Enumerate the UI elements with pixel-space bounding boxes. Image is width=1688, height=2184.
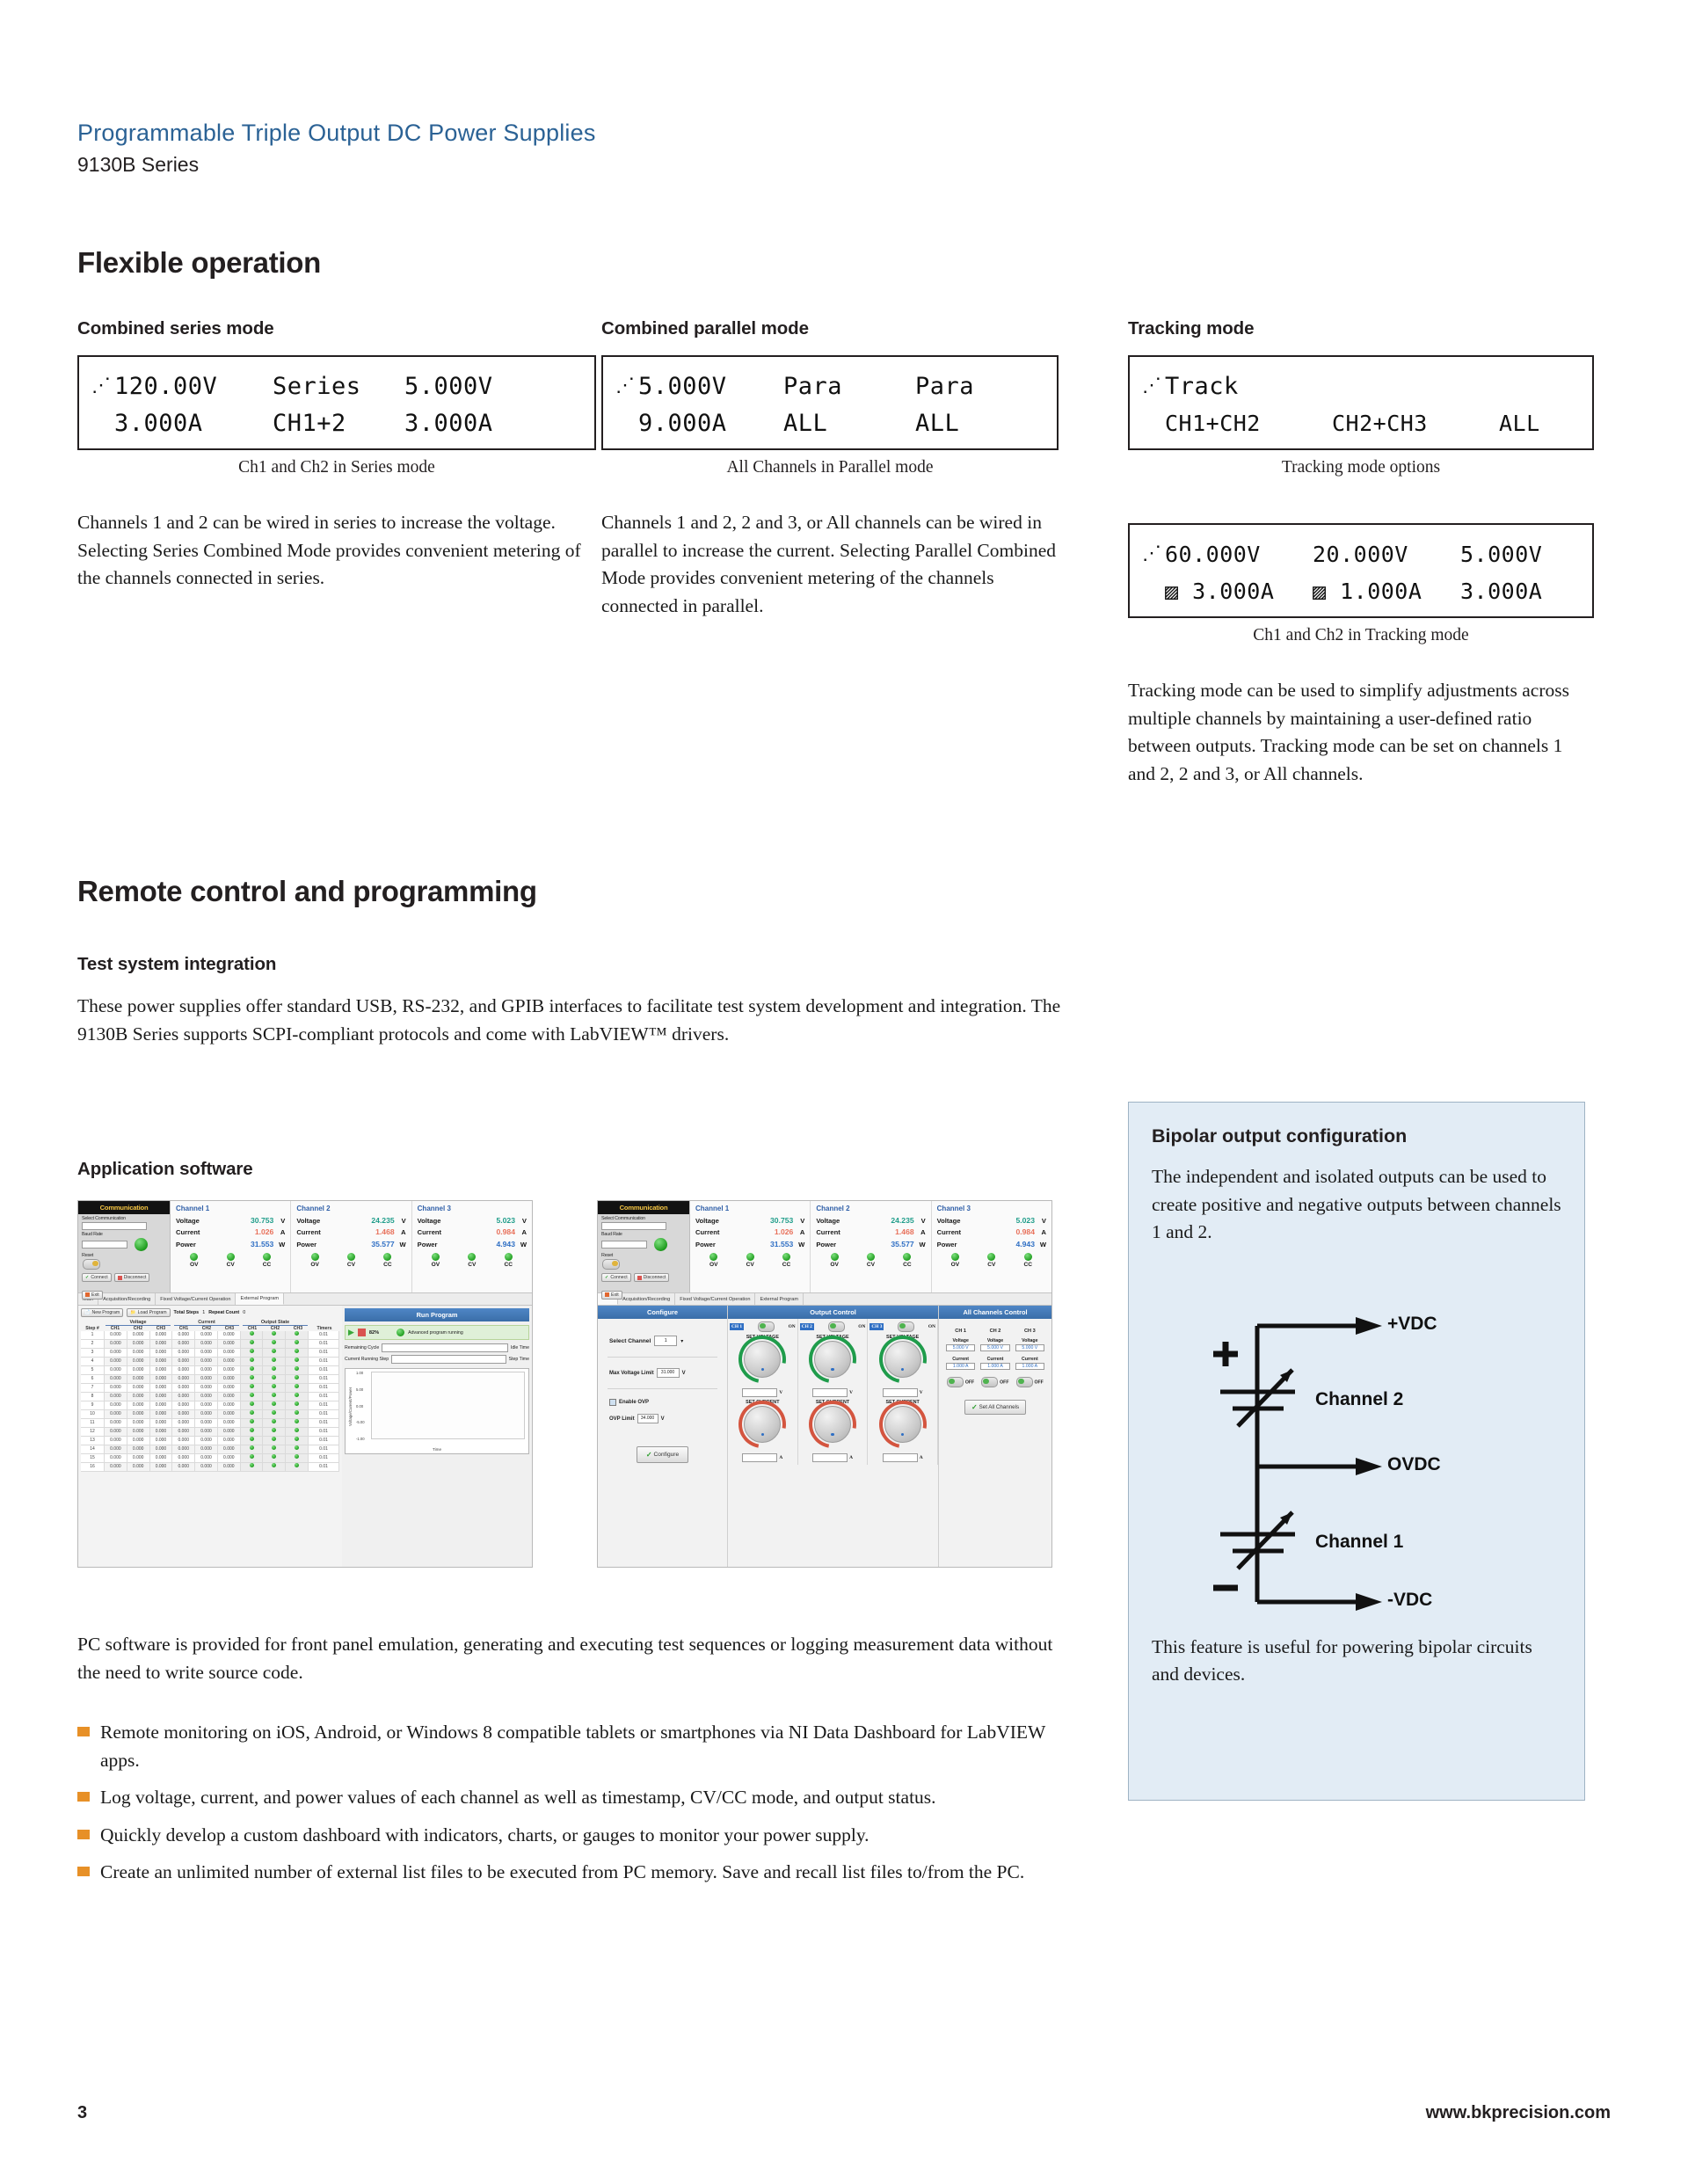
cell-timer[interactable]: 0.01	[309, 1375, 339, 1383]
cell-value[interactable]: 0.000	[172, 1419, 195, 1427]
cell-output-state[interactable]	[286, 1445, 309, 1453]
cell-value[interactable]: 0.000	[127, 1366, 150, 1374]
cell-value[interactable]: 0.000	[195, 1445, 218, 1453]
cell-output-state[interactable]	[286, 1437, 309, 1445]
connect-button[interactable]: ✓ Connect	[82, 1273, 112, 1282]
cell-value[interactable]: 0.000	[150, 1454, 173, 1462]
label-minus-vdc: -VDC	[1387, 1590, 1432, 1611]
cell-output-state[interactable]	[241, 1384, 264, 1392]
cell-value[interactable]: 0.000	[127, 1410, 150, 1418]
current-knob-1[interactable]	[744, 1406, 781, 1443]
all-ch3-output-toggle[interactable]	[1016, 1377, 1033, 1387]
cell-step[interactable]: 1	[81, 1331, 105, 1339]
state-led	[272, 1445, 276, 1450]
disconnect-button[interactable]: Disconnect	[114, 1273, 150, 1282]
cell-value[interactable]: 0.000	[195, 1419, 218, 1427]
cell-value[interactable]: 0.000	[105, 1331, 127, 1339]
cell-value[interactable]: 0.000	[218, 1340, 241, 1348]
cell-step[interactable]: 13	[81, 1437, 105, 1445]
all-ch3-current-field[interactable]: Current1.000 A	[1013, 1357, 1047, 1371]
cell-timer[interactable]: 0.01	[309, 1366, 339, 1374]
cell-step[interactable]: 9	[81, 1401, 105, 1409]
state-led	[250, 1331, 254, 1336]
lcd-marker-icon: ⋰	[615, 376, 638, 396]
cell-output-state[interactable]	[286, 1401, 309, 1409]
cell-step[interactable]: 2	[81, 1340, 105, 1348]
cell-timer[interactable]: 0.01	[309, 1428, 339, 1436]
plot-ytick-3: -5.00	[356, 1420, 370, 1424]
voltage-knob-1[interactable]	[744, 1341, 781, 1378]
table-row[interactable]: 40.0000.0000.0000.0000.0000.0000.01	[81, 1358, 339, 1366]
cell-value[interactable]: 0.000	[218, 1428, 241, 1436]
state-led	[295, 1437, 299, 1441]
cell-value[interactable]: 0.000	[172, 1401, 195, 1409]
cell-timer[interactable]: 0.01	[309, 1331, 339, 1339]
cell-value[interactable]: 0.000	[172, 1384, 195, 1392]
cell-value[interactable]: 0.000	[150, 1384, 173, 1392]
voltage-input-1[interactable]	[742, 1388, 777, 1397]
cell-value[interactable]: 0.000	[172, 1428, 195, 1436]
configure-pane: Configure Select Channel 1 ▾ Max Voltage…	[598, 1306, 728, 1568]
cell-value[interactable]: 0.000	[218, 1366, 241, 1374]
cell-value[interactable]: 0.000	[150, 1410, 173, 1418]
cell-output-state[interactable]	[263, 1463, 286, 1471]
cell-value[interactable]: 0.000	[218, 1445, 241, 1453]
cell-step[interactable]: 12	[81, 1428, 105, 1436]
paragraph-app-software-intro: PC software is provided for front panel …	[77, 1631, 1062, 1686]
connect-button[interactable]: ✓ Connect	[601, 1273, 631, 1282]
cell-value[interactable]: 0.000	[172, 1410, 195, 1418]
lcd-tracking-options-display: ⋰ Track CH1+CH2 CH2+CH3 ALL	[1128, 355, 1594, 450]
table-row[interactable]: 150.0000.0000.0000.0000.0000.0000.01	[81, 1454, 339, 1463]
stop-icon[interactable]	[358, 1329, 366, 1336]
cell-value[interactable]: 0.000	[150, 1331, 173, 1339]
ch3-voltage-unit: V	[1037, 1217, 1046, 1225]
cell-output-state[interactable]	[286, 1384, 309, 1392]
cell-value[interactable]: 0.000	[218, 1437, 241, 1445]
cell-timer[interactable]: 0.01	[309, 1349, 339, 1357]
select-channel-input[interactable]: 1	[654, 1336, 677, 1346]
voltage-knob-pointer	[831, 1368, 834, 1372]
cell-output-state[interactable]	[263, 1349, 286, 1357]
lcd-marker-icon: ⋰	[1142, 376, 1165, 396]
voltage-knob-3[interactable]	[884, 1341, 921, 1378]
cell-step[interactable]: 8	[81, 1393, 105, 1401]
combined-series-block: Combined series mode ⋰ 120.00V Series 5.…	[77, 318, 596, 593]
lcd-trackv-r1c2: 20.000V	[1313, 542, 1460, 567]
cell-output-state[interactable]	[286, 1375, 309, 1383]
cell-value[interactable]: 0.000	[127, 1340, 150, 1348]
cell-value[interactable]: 0.000	[127, 1393, 150, 1401]
cell-output-state[interactable]	[263, 1401, 286, 1409]
table-row[interactable]: 130.0000.0000.0000.0000.0000.0000.01	[81, 1437, 339, 1445]
channel-3-output-toggle[interactable]	[898, 1321, 914, 1332]
connection-status-led	[135, 1238, 148, 1251]
cell-value[interactable]: 0.000	[218, 1358, 241, 1365]
all-ch2-voltage-field[interactable]: Voltage5.000 V	[978, 1338, 1012, 1352]
select-communication-label: Select Communication	[601, 1216, 689, 1221]
all-ch3-voltage-field[interactable]: Voltage5.000 V	[1013, 1338, 1047, 1352]
cell-output-state[interactable]	[241, 1445, 264, 1453]
cell-value[interactable]: 0.000	[218, 1393, 241, 1401]
cell-value[interactable]: 0.000	[195, 1358, 218, 1365]
cell-value[interactable]: 0.000	[172, 1437, 195, 1445]
cell-value[interactable]: 0.000	[150, 1437, 173, 1445]
cell-output-state[interactable]	[263, 1384, 286, 1392]
ch1-voltage-value: 30.753	[213, 1216, 276, 1225]
cell-value[interactable]: 0.000	[218, 1410, 241, 1418]
cell-output-state[interactable]	[263, 1393, 286, 1401]
play-icon[interactable]: ▶	[348, 1328, 354, 1337]
state-led	[250, 1463, 254, 1467]
cell-timer[interactable]: 0.01	[309, 1384, 339, 1392]
ch2-current-unit: A	[917, 1228, 926, 1236]
cell-output-state[interactable]	[263, 1454, 286, 1462]
cell-output-state[interactable]	[263, 1445, 286, 1453]
cell-output-state[interactable]	[241, 1463, 264, 1471]
ch1-power-value: 31.553	[213, 1240, 276, 1249]
cell-value[interactable]: 0.000	[172, 1375, 195, 1383]
cell-step[interactable]: 16	[81, 1463, 105, 1471]
cell-output-state[interactable]	[241, 1454, 264, 1462]
all-ch1-output-toggle[interactable]	[947, 1377, 964, 1387]
cell-value[interactable]: 0.000	[105, 1375, 127, 1383]
cell-value[interactable]: 0.000	[127, 1358, 150, 1365]
exit-button[interactable]: Exit	[82, 1291, 103, 1299]
enable-ovp-checkbox[interactable]	[609, 1399, 616, 1406]
all-ch1-voltage-field[interactable]: Voltage5.000 V	[943, 1338, 978, 1352]
cell-output-state[interactable]	[286, 1331, 309, 1339]
current-input-1[interactable]	[742, 1453, 777, 1462]
current-input-3[interactable]	[883, 1453, 918, 1462]
cell-value[interactable]: 0.000	[218, 1454, 241, 1462]
cell-value[interactable]: 0.000	[127, 1349, 150, 1357]
cell-value[interactable]: 0.000	[195, 1349, 218, 1357]
cell-value[interactable]: 0.000	[127, 1454, 150, 1462]
cell-value[interactable]: 0.000	[218, 1375, 241, 1383]
paragraph-tracking: Tracking mode can be used to simplify ad…	[1128, 677, 1594, 788]
cell-value[interactable]: 0.000	[172, 1393, 195, 1401]
ch3-ov-label: OV	[432, 1262, 440, 1268]
cell-value[interactable]: 0.000	[172, 1366, 195, 1374]
channel-3-title: Channel 3	[418, 1205, 527, 1212]
current-knob-3[interactable]	[884, 1406, 921, 1443]
cell-value[interactable]: 0.000	[195, 1463, 218, 1471]
cell-step[interactable]: 4	[81, 1358, 105, 1365]
table-row[interactable]: 30.0000.0000.0000.0000.0000.0000.01	[81, 1349, 339, 1358]
cell-value[interactable]: 0.000	[105, 1428, 127, 1436]
voltage-knob-2[interactable]	[814, 1341, 851, 1378]
cell-value[interactable]: 0.000	[127, 1331, 150, 1339]
cell-value[interactable]: 0.000	[127, 1463, 150, 1471]
cell-value[interactable]: 0.000	[127, 1445, 150, 1453]
ch2-current-value: 1.468	[853, 1227, 916, 1236]
cell-value[interactable]: 0.000	[195, 1401, 218, 1409]
lcd-series-r1c2: Series	[273, 373, 404, 400]
cell-step[interactable]: 10	[81, 1410, 105, 1418]
table-row[interactable]: 160.0000.0000.0000.0000.0000.0000.01	[81, 1463, 339, 1472]
configure-button[interactable]: ✓ Configure	[637, 1446, 688, 1463]
current-step-field	[391, 1355, 506, 1364]
cell-value[interactable]: 0.000	[150, 1463, 173, 1471]
cell-value[interactable]: 0.000	[105, 1437, 127, 1445]
chevron-down-icon[interactable]: ▾	[680, 1338, 683, 1344]
cell-value[interactable]: 0.000	[127, 1428, 150, 1436]
ch1-cc-label: CC	[782, 1262, 791, 1268]
cell-value[interactable]: 0.000	[195, 1437, 218, 1445]
cell-output-state[interactable]	[263, 1419, 286, 1427]
cell-value[interactable]: 0.000	[150, 1445, 173, 1453]
cell-value[interactable]: 0.000	[150, 1349, 173, 1357]
cell-value[interactable]: 0.000	[105, 1445, 127, 1453]
cell-value[interactable]: 0.000	[150, 1375, 173, 1383]
cell-value[interactable]: 0.000	[150, 1366, 173, 1374]
cell-output-state[interactable]	[263, 1340, 286, 1348]
ch1-voltage-value: 30.753	[732, 1216, 796, 1225]
voltage-input-2[interactable]	[812, 1388, 848, 1397]
cell-value[interactable]: 0.000	[172, 1349, 195, 1357]
table-row[interactable]: 60.0000.0000.0000.0000.0000.0000.01	[81, 1375, 339, 1384]
cell-output-state[interactable]	[286, 1419, 309, 1427]
cell-value[interactable]: 0.000	[127, 1437, 150, 1445]
cell-step[interactable]: 14	[81, 1445, 105, 1453]
set-all-channels-button[interactable]: ✓ Set All Channels	[964, 1400, 1026, 1415]
cell-value[interactable]: 0.000	[172, 1340, 195, 1348]
cell-output-state[interactable]	[241, 1393, 264, 1401]
tab-external-program[interactable]: External Program	[236, 1293, 284, 1305]
state-led	[272, 1331, 276, 1336]
disconnect-button[interactable]: Disconnect	[634, 1273, 670, 1282]
cell-output-state[interactable]	[263, 1358, 286, 1365]
cell-value[interactable]: 0.000	[172, 1445, 195, 1453]
software-screenshot-program[interactable]: Communication Select Communication Baud …	[77, 1200, 533, 1568]
cell-output-state[interactable]	[263, 1428, 286, 1436]
current-input-2[interactable]	[812, 1453, 848, 1462]
cell-output-state[interactable]	[241, 1419, 264, 1427]
communication-panel: Communication Select Communication Baud …	[78, 1201, 171, 1292]
cell-step[interactable]: 3	[81, 1349, 105, 1357]
cell-step[interactable]: 6	[81, 1375, 105, 1383]
all-channels-header: All Channels Control	[939, 1306, 1051, 1319]
cell-value[interactable]: 0.000	[218, 1419, 241, 1427]
all-ch3-label: CH 3	[1013, 1329, 1047, 1334]
cell-output-state[interactable]	[263, 1366, 286, 1374]
state-led	[250, 1340, 254, 1344]
run-program-header: Run Program	[345, 1308, 529, 1321]
all-ch2-current-field[interactable]: Current1.000 A	[978, 1357, 1012, 1371]
cell-output-state[interactable]	[241, 1358, 264, 1365]
cell-timer[interactable]: 0.01	[309, 1419, 339, 1427]
bullet-item: Create an unlimited number of external l…	[77, 1859, 1062, 1887]
cell-output-state[interactable]	[241, 1410, 264, 1418]
cell-value[interactable]: 0.000	[105, 1410, 127, 1418]
cell-timer[interactable]: 0.01	[309, 1454, 339, 1462]
baud-rate-input[interactable]	[601, 1241, 647, 1249]
cell-output-state[interactable]	[241, 1437, 264, 1445]
current-input-unit-1: A	[779, 1455, 782, 1460]
cell-output-state[interactable]	[241, 1401, 264, 1409]
stop-icon	[637, 1276, 642, 1280]
max-voltage-limit-input[interactable]: 31.000	[657, 1368, 680, 1378]
ovp-limit-input[interactable]: 34.000	[637, 1414, 658, 1423]
cell-value[interactable]: 0.000	[195, 1454, 218, 1462]
table-row[interactable]: 100.0000.0000.0000.0000.0000.0000.01	[81, 1410, 339, 1419]
cell-value[interactable]: 0.000	[150, 1401, 173, 1409]
cell-output-state[interactable]	[263, 1375, 286, 1383]
load-program-button[interactable]: 📁 Load Program	[127, 1308, 170, 1317]
cell-output-state[interactable]	[286, 1340, 309, 1348]
cell-step[interactable]: 5	[81, 1366, 105, 1374]
cell-value[interactable]: 0.000	[195, 1366, 218, 1374]
cell-output-state[interactable]	[241, 1428, 264, 1436]
cell-value[interactable]: 0.000	[150, 1419, 173, 1427]
cell-output-state[interactable]	[263, 1410, 286, 1418]
cell-value[interactable]: 0.000	[127, 1419, 150, 1427]
state-led	[250, 1437, 254, 1441]
cell-value[interactable]: 0.000	[105, 1349, 127, 1357]
cell-output-state[interactable]	[286, 1463, 309, 1471]
cell-value[interactable]: 0.000	[218, 1349, 241, 1357]
ch3-power-value: 4.943	[455, 1240, 518, 1249]
voltage-input-3[interactable]	[883, 1388, 918, 1397]
cell-timer[interactable]: 0.01	[309, 1340, 339, 1348]
channel-2-output-toggle[interactable]	[828, 1321, 845, 1332]
cell-value[interactable]: 0.000	[195, 1331, 218, 1339]
cell-value[interactable]: 0.000	[218, 1401, 241, 1409]
current-knob-2[interactable]	[814, 1406, 851, 1443]
cell-timer[interactable]: 0.01	[309, 1410, 339, 1418]
cell-timer[interactable]: 0.01	[309, 1445, 339, 1453]
cell-value[interactable]: 0.000	[218, 1463, 241, 1471]
reset-toggle[interactable]	[602, 1259, 620, 1270]
table-row[interactable]: 140.0000.0000.0000.0000.0000.0000.01	[81, 1445, 339, 1454]
cell-output-state[interactable]	[286, 1393, 309, 1401]
bullet-item: Remote monitoring on iOS, Android, or Wi…	[77, 1719, 1062, 1774]
cell-value[interactable]: 0.000	[105, 1358, 127, 1365]
cell-value[interactable]: 0.000	[218, 1384, 241, 1392]
cell-value[interactable]: 0.000	[105, 1454, 127, 1462]
cell-output-state[interactable]	[241, 1331, 264, 1339]
footer-url[interactable]: www.bkprecision.com	[1426, 2103, 1611, 2123]
cell-value[interactable]: 0.000	[105, 1340, 127, 1348]
channel-1-output-state: ON	[789, 1324, 796, 1329]
cell-output-state[interactable]	[286, 1349, 309, 1357]
reset-label: Reset	[82, 1253, 170, 1258]
software-screenshot-main[interactable]: Communication Select Communication Baud …	[597, 1200, 1052, 1568]
cell-value[interactable]: 0.000	[195, 1375, 218, 1383]
cell-output-state[interactable]	[241, 1340, 264, 1348]
table-row[interactable]: 80.0000.0000.0000.0000.0000.0000.01	[81, 1393, 339, 1401]
cell-value[interactable]: 0.000	[127, 1384, 150, 1392]
state-led	[250, 1419, 254, 1423]
cell-output-state[interactable]	[263, 1437, 286, 1445]
cell-timer[interactable]: 0.01	[309, 1437, 339, 1445]
table-row[interactable]: 70.0000.0000.0000.0000.0000.0000.01	[81, 1384, 339, 1393]
cell-value[interactable]: 0.000	[105, 1419, 127, 1427]
baud-rate-input[interactable]	[82, 1241, 127, 1249]
select-communication-dropdown[interactable]	[601, 1222, 666, 1230]
cell-output-state[interactable]	[286, 1358, 309, 1365]
new-program-button[interactable]: 📄 New Program	[81, 1308, 123, 1317]
group-voltage: Voltage	[105, 1320, 171, 1326]
cell-value[interactable]: 0.000	[195, 1410, 218, 1418]
program-table-body[interactable]: 10.0000.0000.0000.0000.0000.0000.0120.00…	[81, 1331, 339, 1472]
cell-value[interactable]: 0.000	[150, 1358, 173, 1365]
cell-value[interactable]: 0.000	[195, 1340, 218, 1348]
table-row[interactable]: 120.0000.0000.0000.0000.0000.0000.01	[81, 1428, 339, 1437]
reset-toggle[interactable]	[83, 1259, 100, 1270]
cell-step[interactable]: 11	[81, 1419, 105, 1427]
ch2-power-label: Power	[816, 1241, 853, 1249]
cell-timer[interactable]: 0.01	[309, 1358, 339, 1365]
table-row[interactable]: 50.0000.0000.0000.0000.0000.0000.01	[81, 1366, 339, 1375]
exit-button[interactable]: Exit	[601, 1291, 622, 1299]
ch3-cc-led	[505, 1253, 513, 1261]
ch2-voltage-value: 24.235	[333, 1216, 397, 1225]
ch3-current-label: Current	[418, 1228, 455, 1236]
cell-timer[interactable]: 0.01	[309, 1401, 339, 1409]
screenshot2-top-bar: Communication Select Communication Baud …	[598, 1201, 1051, 1292]
all-ch2-output-toggle[interactable]	[981, 1377, 998, 1387]
cell-value[interactable]: 0.000	[150, 1428, 173, 1436]
cell-value[interactable]: 0.000	[105, 1384, 127, 1392]
cell-value[interactable]: 0.000	[105, 1393, 127, 1401]
cell-value[interactable]: 0.000	[195, 1384, 218, 1392]
cell-value[interactable]: 0.000	[172, 1331, 195, 1339]
cell-value[interactable]: 0.000	[172, 1358, 195, 1365]
cell-value[interactable]: 0.000	[105, 1401, 127, 1409]
cell-output-state[interactable]	[286, 1366, 309, 1374]
table-row[interactable]: 90.0000.0000.0000.0000.0000.0000.01	[81, 1401, 339, 1410]
cell-value[interactable]: 0.000	[218, 1331, 241, 1339]
cell-timer[interactable]: 0.01	[309, 1393, 339, 1401]
table-row[interactable]: 10.0000.0000.0000.0000.0000.0000.01	[81, 1331, 339, 1340]
cell-value[interactable]: 0.000	[127, 1375, 150, 1383]
ch2-cc-label: CC	[903, 1262, 912, 1268]
all-ch1-current-field[interactable]: Current1.000 A	[943, 1357, 978, 1371]
state-led	[272, 1340, 276, 1344]
ch2-cc-led	[903, 1253, 911, 1261]
cell-value[interactable]: 0.000	[150, 1340, 173, 1348]
table-row[interactable]: 20.0000.0000.0000.0000.0000.0000.01	[81, 1340, 339, 1349]
cell-value[interactable]: 0.000	[105, 1463, 127, 1471]
cell-value[interactable]: 0.000	[127, 1401, 150, 1409]
cell-output-state[interactable]	[241, 1349, 264, 1357]
cell-value[interactable]: 0.000	[195, 1393, 218, 1401]
select-communication-dropdown[interactable]	[82, 1222, 147, 1230]
cell-step[interactable]: 7	[81, 1384, 105, 1392]
state-led	[272, 1419, 276, 1423]
cell-value[interactable]: 0.000	[172, 1454, 195, 1462]
cell-output-state[interactable]	[286, 1454, 309, 1462]
ch1-cc-label: CC	[263, 1262, 272, 1268]
cell-output-state[interactable]	[263, 1331, 286, 1339]
cell-value[interactable]: 0.000	[172, 1463, 195, 1471]
cell-timer[interactable]: 0.01	[309, 1463, 339, 1471]
cell-step[interactable]: 15	[81, 1454, 105, 1462]
tab-external-program[interactable]: External Program	[755, 1293, 804, 1305]
cell-output-state[interactable]	[286, 1410, 309, 1418]
channel-1-output-toggle[interactable]	[758, 1321, 775, 1332]
knob-channel-1: CH 1ONSET VOLTAGEVSET CURRENTA	[728, 1319, 798, 1465]
cell-output-state[interactable]	[286, 1428, 309, 1436]
cell-value[interactable]: 0.000	[150, 1393, 173, 1401]
cell-output-state[interactable]	[241, 1375, 264, 1383]
cell-value[interactable]: 0.000	[195, 1428, 218, 1436]
cell-value[interactable]: 0.000	[105, 1366, 127, 1374]
table-row[interactable]: 110.0000.0000.0000.0000.0000.0000.01	[81, 1419, 339, 1428]
cell-output-state[interactable]	[241, 1366, 264, 1374]
